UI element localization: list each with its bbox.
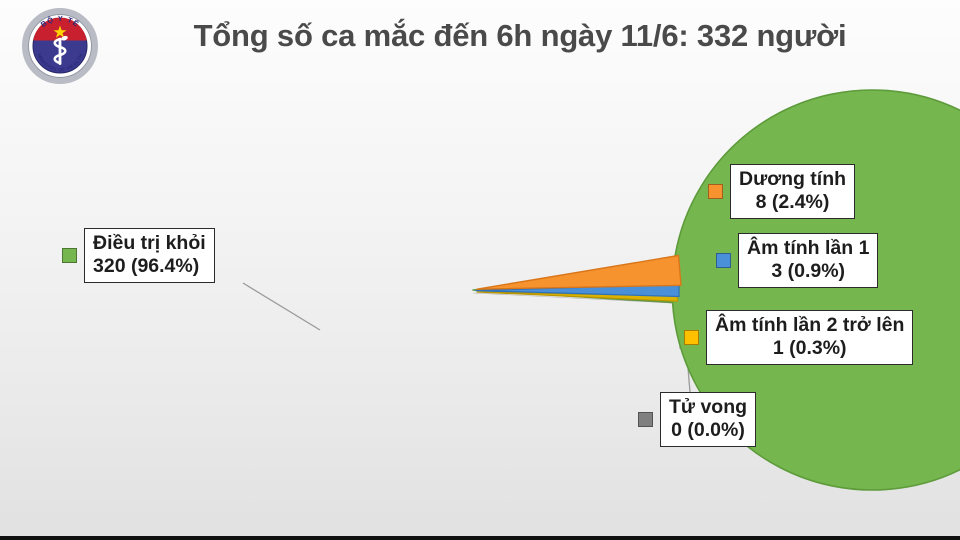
callout-negative-1-box: Âm tính lần 1 3 (0.9%) <box>738 233 878 288</box>
callout-recovered-value: 320 (96.4%) <box>93 255 206 278</box>
callout-negative-1[interactable]: Âm tính lần 1 3 (0.9%) <box>716 233 878 288</box>
callout-recovered-label: Điều trị khỏi <box>93 232 206 255</box>
callout-negative-1-value: 3 (0.9%) <box>747 260 869 283</box>
callout-recovered[interactable]: Điều trị khỏi 320 (96.4%) <box>62 228 215 283</box>
callout-death-value: 0 (0.0%) <box>669 419 747 442</box>
callout-death[interactable]: Tử vong 0 (0.0%) <box>638 392 756 447</box>
pie-slice-positive <box>477 256 681 290</box>
callout-negative-2-plus-label: Âm tính lần 2 trở lên <box>715 314 904 337</box>
callout-positive[interactable]: Dương tính 8 (2.4%) <box>708 164 855 219</box>
leader-line-recovered <box>243 283 320 330</box>
legend-swatch-positive <box>708 184 723 199</box>
callout-death-box: Tử vong 0 (0.0%) <box>660 392 756 447</box>
callout-positive-box: Dương tính 8 (2.4%) <box>730 164 855 219</box>
legend-swatch-negative-2-plus <box>684 330 699 345</box>
callout-positive-label: Dương tính <box>739 168 846 191</box>
callout-recovered-box: Điều trị khỏi 320 (96.4%) <box>84 228 215 283</box>
callout-death-label: Tử vong <box>669 396 747 419</box>
legend-swatch-death <box>638 412 653 427</box>
bottom-edge-strip <box>0 536 960 540</box>
slide: BỘ Y TẾ MINISTRY OF HEALTH Tổng số ca mắ… <box>0 0 960 540</box>
callout-negative-2-plus-value: 1 (0.3%) <box>715 337 904 360</box>
callout-negative-1-label: Âm tính lần 1 <box>747 237 869 260</box>
callout-positive-value: 8 (2.4%) <box>739 191 846 214</box>
legend-swatch-negative-1 <box>716 253 731 268</box>
legend-swatch-recovered <box>62 248 77 263</box>
callout-negative-2-plus-box: Âm tính lần 2 trở lên 1 (0.3%) <box>706 310 913 365</box>
callout-negative-2-plus[interactable]: Âm tính lần 2 trở lên 1 (0.3%) <box>684 310 913 365</box>
